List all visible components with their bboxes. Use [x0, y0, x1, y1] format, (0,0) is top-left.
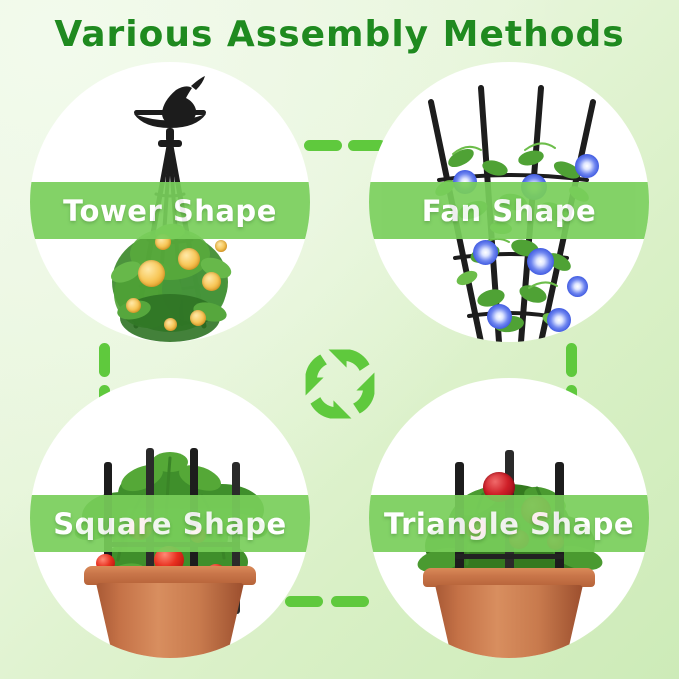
connector-dash — [566, 343, 577, 377]
pot-rim — [84, 566, 256, 585]
pot-rim — [423, 568, 595, 587]
morning-glory-bloom — [527, 248, 554, 275]
panel-triangle[interactable]: Triangle Shape — [369, 378, 649, 658]
rose-bloom — [202, 272, 221, 291]
pot-body — [435, 585, 583, 658]
morning-glory-bloom — [547, 308, 571, 332]
panel-square-label: Square Shape — [53, 507, 286, 541]
panel-tower-label: Tower Shape — [63, 194, 277, 228]
connector-dash — [331, 596, 369, 607]
morning-glory-bloom — [567, 276, 588, 297]
panel-fan-label: Fan Shape — [422, 194, 596, 228]
pot-body — [96, 583, 244, 658]
terracotta-planter — [423, 568, 595, 658]
panel-square-disc: Square Shape — [30, 378, 310, 658]
panel-tower-disc: Tower Shape — [30, 62, 310, 342]
panel-tower[interactable]: Tower Shape — [30, 62, 310, 342]
infographic-poster: Various Assembly Methods — [0, 0, 679, 679]
morning-glory-bloom — [473, 240, 498, 265]
rose-bloom — [164, 318, 177, 331]
panel-triangle-label: Triangle Shape — [384, 507, 634, 541]
rose-bloom — [178, 248, 200, 270]
morning-glory-bloom — [487, 304, 512, 329]
panel-triangle-banner: Triangle Shape — [369, 495, 649, 552]
panel-square-banner: Square Shape — [30, 495, 310, 552]
panel-triangle-disc: Triangle Shape — [369, 378, 649, 658]
panel-fan-disc: Fan Shape — [369, 62, 649, 342]
terracotta-planter — [84, 566, 256, 658]
rose-bloom — [126, 298, 141, 313]
connector-dash — [99, 343, 110, 377]
rose-bloom — [215, 240, 227, 252]
panel-fan[interactable]: Fan Shape — [369, 62, 649, 342]
panel-tower-banner: Tower Shape — [30, 182, 310, 239]
morning-glory-bloom — [575, 154, 599, 178]
page-title: Various Assembly Methods — [0, 14, 679, 55]
panel-square[interactable]: Square Shape — [30, 378, 310, 658]
rose-bloom — [138, 260, 165, 287]
panel-fan-banner: Fan Shape — [369, 182, 649, 239]
rose-bloom — [190, 310, 206, 326]
